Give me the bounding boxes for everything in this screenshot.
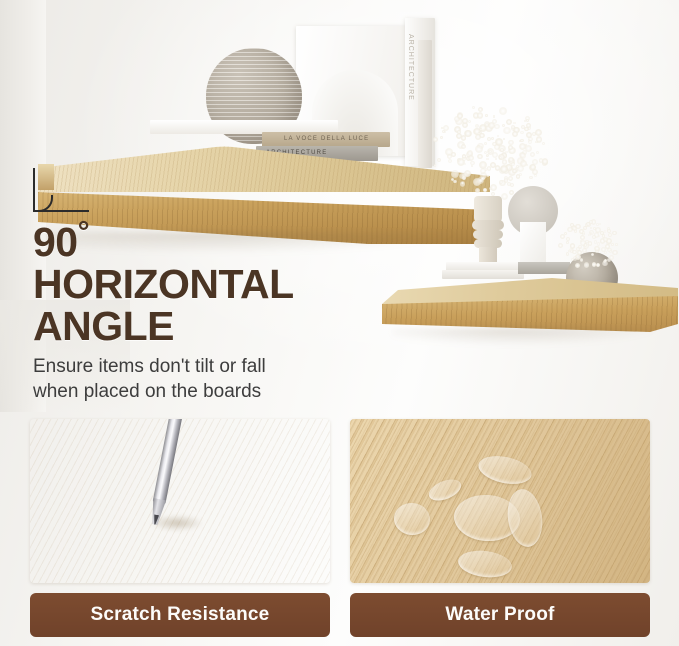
headline-angle-value: 90 [33, 219, 78, 265]
water-proof-label-bar: Water Proof [350, 593, 650, 637]
book-spine-label: ARCHITECTURE [407, 34, 414, 101]
feature-tile-scratch: Scratch Resistance [30, 419, 330, 637]
decor-white-card [520, 222, 546, 266]
page-title: 90° HORIZONTAL ANGLE [33, 222, 363, 347]
lower-shelf-drop-shadow [392, 328, 662, 346]
headline-block: 90° HORIZONTAL ANGLE Ensure items don't … [33, 222, 363, 404]
book-stack-tan: LA VOCE DELLA LUCE [262, 132, 390, 147]
product-feature-image: ARCHITECTURE LA VOCE DELLA LUCE ARCHITEC… [0, 0, 679, 646]
decor-plaque [518, 262, 570, 274]
scratch-resistance-label-bar: Scratch Resistance [30, 593, 330, 637]
right-angle-indicator [33, 168, 91, 222]
subtext-line-1: Ensure items don't tilt or fall [33, 355, 363, 379]
feature-tiles: Scratch Resistance Water Proof [0, 419, 679, 646]
book-stack-label-1: LA VOCE DELLA LUCE [284, 136, 369, 142]
headline-line-1: 90° [33, 222, 363, 264]
vase-ring-1 [472, 220, 504, 230]
screwdriver-shaft [153, 419, 183, 504]
floating-shelf-lower [382, 278, 678, 338]
headline-line-2: HORIZONTAL [33, 264, 363, 306]
feature-tile-water: Water Proof [350, 419, 650, 637]
subtext-line-2: when placed on the boards [33, 380, 363, 404]
headline-line-3: ANGLE [33, 306, 363, 348]
angle-vertical-line [33, 168, 35, 212]
scratch-resistance-label: Scratch Resistance [91, 604, 270, 626]
water-proof-label: Water Proof [445, 604, 554, 626]
water-droplets-on-wood-photo [350, 419, 650, 583]
degree-symbol-icon: ° [78, 215, 90, 248]
screwdriver-on-wood-photo [30, 419, 330, 583]
vase-neck [474, 196, 502, 222]
screwdriver-tip [148, 498, 166, 526]
headline-subtext: Ensure items don't tilt or fall when pla… [33, 355, 363, 404]
vase-ring-2 [473, 230, 503, 239]
